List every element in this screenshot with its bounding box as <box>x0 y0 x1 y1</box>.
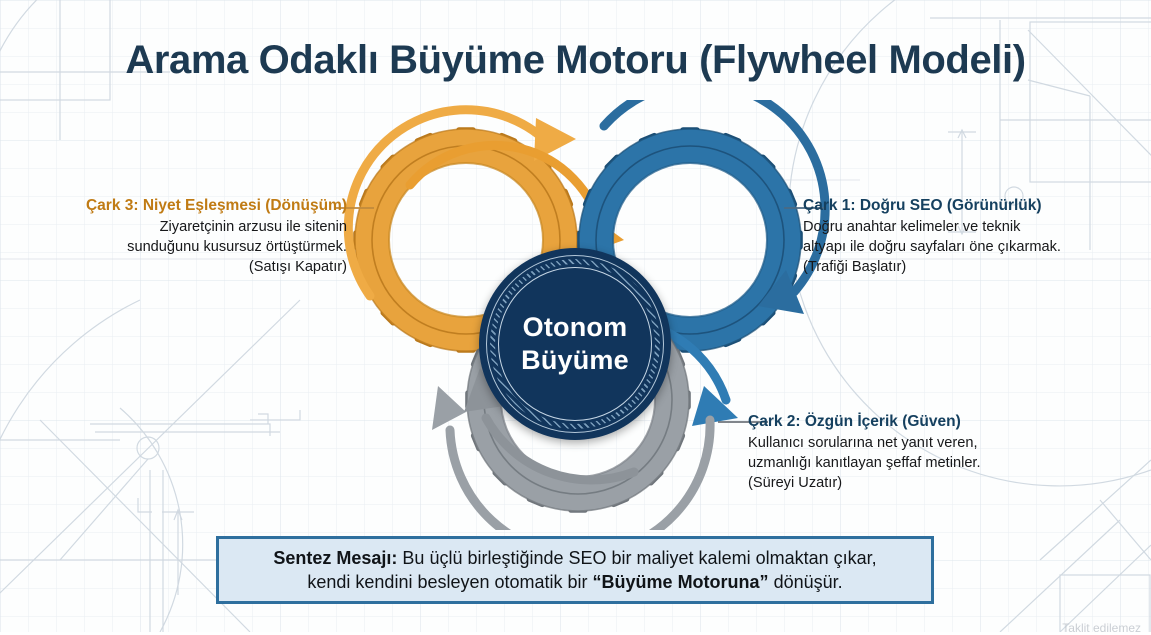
gear-1-body-line1: Doğru anahtar kelimeler ve teknik <box>803 218 1093 238</box>
hub-label-line2: Büyüme <box>521 344 629 377</box>
gear-2-label-block: Çark 2: Özgün İçerik (Güven) Kullanıcı s… <box>748 412 1048 493</box>
gear-2-body: Kullanıcı sorularına net yanıt veren, uz… <box>748 434 1048 493</box>
gear-2-heading: Çark 2: Özgün İçerik (Güven) <box>748 412 1048 431</box>
gear-3-body-line1: Ziyaretçinin arzusu ile sitenin <box>42 218 347 238</box>
gear-3-label-block: Çark 3: Niyet Eşleşmesi (Dönüşüm) Ziyare… <box>42 196 347 277</box>
synthesis-banner-text: Sentez Mesajı: Bu üçlü birleştiğinde SEO… <box>259 546 890 594</box>
gear-2-body-line1: Kullanıcı sorularına net yanıt veren, <box>748 434 1048 454</box>
gear-3-body-line2: sunduğunu kusursuz örtüştürmek. <box>42 238 347 258</box>
gear-3-body-line3: (Satışı Kapatır) <box>42 258 347 278</box>
center-hub: Otonom Büyüme <box>479 248 671 440</box>
synthesis-text-part2: kendi kendini besleyen otomatik bir <box>307 572 592 592</box>
watermark: Taklit edilemez <box>1062 621 1141 635</box>
page-title: Arama Odaklı Büyüme Motoru (Flywheel Mod… <box>0 38 1151 83</box>
gear-1-heading: Çark 1: Doğru SEO (Görünürlük) <box>803 196 1093 215</box>
synthesis-bold-label: Sentez Mesajı: <box>273 548 397 568</box>
gear-2-body-line2: uzmanlığı kanıtlayan şeffaf metinler. <box>748 454 1048 474</box>
gear-1-label-block: Çark 1: Doğru SEO (Görünürlük) Doğru ana… <box>803 196 1093 277</box>
synthesis-quoted-bold: “Büyüme Motoruna” <box>593 572 769 592</box>
gear-1-body-line2: altyapı ile doğru sayfaları öne çıkarmak… <box>803 238 1093 258</box>
synthesis-text-part3: dönüşür. <box>769 572 843 592</box>
synthesis-banner: Sentez Mesajı: Bu üçlü birleştiğinde SEO… <box>216 536 934 604</box>
synthesis-text-part1: Bu üçlü birleştiğinde SEO bir maliyet ka… <box>397 548 876 568</box>
gear-3-body: Ziyaretçinin arzusu ile sitenin sunduğun… <box>42 218 347 277</box>
gear-1-body: Doğru anahtar kelimeler ve teknik altyap… <box>803 218 1093 277</box>
gear-3-heading: Çark 3: Niyet Eşleşmesi (Dönüşüm) <box>42 196 347 215</box>
gear-1-body-line3: (Trafiği Başlatır) <box>803 258 1093 278</box>
gear-2-body-line3: (Süreyi Uzatır) <box>748 474 1048 494</box>
hub-label-line1: Otonom <box>523 311 628 344</box>
